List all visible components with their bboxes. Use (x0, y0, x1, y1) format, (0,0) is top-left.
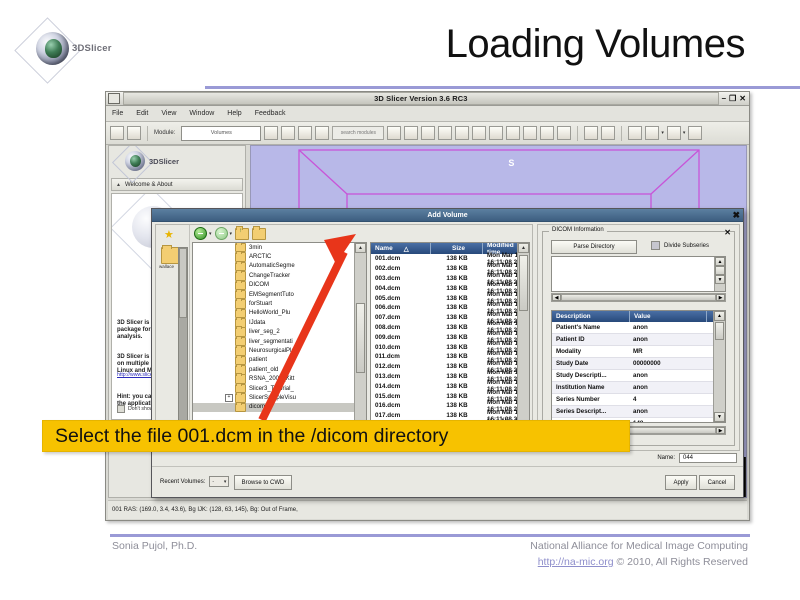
menu-file[interactable]: File (112, 110, 123, 117)
dicom-tag-row[interactable]: Study Descripti...anon (552, 370, 725, 382)
places-scrollbar-thumb[interactable] (179, 248, 187, 318)
menu-edit[interactable]: Edit (136, 110, 148, 117)
footer-copyright-text: © 2010, All Rights Reserved (617, 556, 748, 568)
places-sidebar[interactable]: ★ wallace (156, 225, 190, 450)
dicom-column-value: Value (630, 311, 707, 322)
directory-tree-item-label: liver_seg_2 (249, 329, 280, 335)
directory-tree-item-label: HelloWorld_Plu (249, 310, 290, 316)
parse-directory-button[interactable]: Parse Directory (551, 240, 637, 254)
file-browser-main: ▾ ▾ 3minARCTICAutomaticSegmeChangeTracke… (190, 225, 532, 450)
browse-to-cwd-button[interactable]: Browse to CWD (234, 475, 292, 490)
file-cell-name: 003.dcm (371, 275, 431, 282)
module-prev-icon[interactable] (264, 126, 278, 140)
directory-tree-scrollbar[interactable]: ▲ ▼ (354, 243, 366, 447)
file-cell-name: 004.dcm (371, 285, 431, 292)
file-cell-size: 138 KB (431, 275, 483, 282)
menu-view[interactable]: View (161, 110, 176, 117)
slicer-toolbar[interactable]: Module: Volumes search modules ▾ ▾ (106, 122, 749, 145)
directory-tree-item-label: NeurosurgicalPla (249, 348, 295, 354)
footer-url-link[interactable]: http://na-mic.org (538, 556, 614, 568)
new-folder-icon[interactable] (252, 228, 266, 240)
footer-author: Sonia Pujol, Ph.D. (112, 540, 197, 552)
dicom-tag-value: anon (630, 408, 725, 415)
directory-tree-item-label: dicom (249, 404, 265, 410)
menu-window[interactable]: Window (189, 110, 214, 117)
save-scene-icon[interactable] (127, 126, 141, 140)
directory-tree-item[interactable]: AutomaticSegme (193, 262, 355, 271)
redo-icon[interactable] (601, 126, 615, 140)
file-list-scroll-thumb[interactable] (519, 255, 528, 311)
slicer-window-title: 3D Slicer Version 3.6 RC3 (374, 94, 467, 103)
sort-ascending-icon: △ (404, 245, 409, 253)
dicom-tag-row[interactable]: Patient IDanon (552, 334, 725, 346)
series-hscroll-right-icon[interactable]: ▶ (716, 294, 725, 301)
file-browser-panes: 3minARCTICAutomaticSegmeChangeTrackerDIC… (192, 242, 530, 448)
directory-tree-item[interactable]: patient (193, 356, 355, 365)
instruction-caption: Select the file 001.dcm in the /dicom di… (42, 420, 630, 452)
file-cell-name: 002.dcm (371, 265, 431, 272)
footer-organization: National Alliance for Medical Image Comp… (530, 540, 748, 552)
series-hscroll-track[interactable] (561, 294, 716, 301)
dicom-tag-value: MR (630, 348, 725, 355)
directory-tree-item[interactable]: dicom (193, 403, 355, 412)
directory-tree-item-label: 3min (249, 245, 262, 251)
file-cell-size: 138 KB (431, 363, 483, 370)
file-cell-size: 138 KB (431, 314, 483, 321)
dicom-tag-value: anon (630, 336, 725, 343)
dicom-tag-description: Series Number (552, 396, 630, 403)
places-scrollbar[interactable] (178, 247, 188, 446)
dicom-tag-value: 00000000 (630, 360, 725, 367)
add-volume-content: ★ wallace ▾ ▾ (152, 221, 743, 497)
dicom-tag-value: anon (630, 384, 725, 391)
dicom-tag-row[interactable]: ModalityMR (552, 346, 725, 358)
column-header-name-label: Name (375, 245, 393, 252)
dicom-tag-row[interactable]: Series Descript...anon (552, 406, 725, 418)
dicom-tag-row[interactable]: Institution Nameanon (552, 382, 725, 394)
rotate-view-icon[interactable] (688, 126, 702, 140)
file-cell-name: 007.dcm (371, 314, 431, 321)
directory-tree-item-label: patient_old (249, 367, 278, 373)
file-cell-name: 013.dcm (371, 373, 431, 380)
recent-volumes-value: - (212, 479, 214, 485)
module-select-value: Volumes (211, 130, 232, 136)
directory-tree-item[interactable]: 3min (193, 243, 355, 252)
series-list-scrollbar[interactable]: ▲ ▼ (714, 257, 725, 291)
directory-tree-item-label: forStuart (249, 301, 272, 307)
add-icon[interactable] (194, 227, 207, 240)
volume-name-input[interactable]: 044 (679, 453, 737, 463)
add-pale-icon[interactable] (215, 227, 228, 240)
module-panel-logo: 3DSlicer (109, 146, 245, 176)
scroll-up-icon[interactable]: ▲ (355, 243, 366, 253)
panel-slicer-ball-icon (125, 151, 145, 171)
directory-tree-item[interactable]: liver_segmentati (193, 337, 355, 346)
file-cell-name: 015.dcm (371, 393, 431, 400)
system-menu-icon[interactable] (108, 93, 120, 104)
menu-help[interactable]: Help (227, 110, 241, 117)
file-cell-size: 138 KB (431, 304, 483, 311)
add-volume-dialog: Add Volume ✖ ★ wallace ▾ ▾ (151, 208, 744, 498)
file-cell-size: 138 KB (431, 412, 483, 419)
slide-logo: 3DSlicer (22, 28, 117, 70)
dicom-tag-description: Study Date (552, 360, 630, 367)
series-scroll-thumb[interactable] (715, 266, 725, 275)
add-volume-title: Add Volume (427, 212, 467, 219)
directory-tree-item[interactable]: patient_old (193, 365, 355, 374)
dicom-tag-row[interactable]: Patient's Nameanon (552, 322, 725, 334)
directory-tree-item[interactable]: RSNA_2009_Kitt (193, 374, 355, 383)
footer-divider (110, 534, 750, 537)
module-search-input[interactable]: search modules (332, 126, 384, 140)
series-list[interactable]: ▲ ▼ (551, 256, 726, 292)
directory-tree-item-label: ChangeTracker (249, 273, 290, 279)
menu-feedback[interactable]: Feedback (255, 110, 286, 117)
home-module-icon[interactable] (404, 126, 418, 140)
file-cell-name: 006.dcm (371, 304, 431, 311)
models-icon[interactable] (472, 126, 486, 140)
directory-tree-item[interactable]: EMSegmentTuto (193, 290, 355, 299)
file-list[interactable]: Name △ Size Modified time 001.dcm138 KBM… (370, 242, 530, 448)
series-scroll-up-icon[interactable]: ▲ (715, 257, 725, 266)
volume-name-row: Name: 044 (657, 453, 737, 463)
module-label: Module: (154, 130, 175, 136)
file-cell-name: 016.dcm (371, 402, 431, 409)
file-browser: ★ wallace ▾ ▾ (155, 224, 533, 451)
close-icon[interactable]: ✕ (739, 94, 746, 103)
cancel-button[interactable]: Cancel (699, 475, 735, 490)
star-icon[interactable]: ★ (164, 228, 189, 241)
add-volume-close-icon[interactable]: ✖ (732, 209, 740, 221)
dicom-tag-row[interactable]: Study Date00000000 (552, 358, 725, 370)
dicom-tag-description: Study Descripti... (552, 372, 630, 379)
orientation-label-s: S (508, 158, 514, 168)
module-history-icon[interactable] (298, 126, 312, 140)
dicom-tags-table[interactable]: Description Value Patient's NameanonPati… (551, 310, 726, 423)
directory-tree-item[interactable]: HelloWorld_Plu (193, 309, 355, 318)
file-cell-name: 008.dcm (371, 324, 431, 331)
directory-tree-item[interactable]: liver_seg_2 (193, 328, 355, 337)
up-folder-icon[interactable] (235, 228, 249, 240)
directory-tree-item[interactable]: ChangeTracker (193, 271, 355, 280)
dicom-tag-value: anon (630, 324, 725, 331)
mouse-mode-icon[interactable] (645, 126, 659, 140)
recent-volumes-select[interactable]: - ▾ (209, 476, 229, 487)
file-cell-size: 138 KB (431, 324, 483, 331)
directory-tree-item-label: EMSegmentTuto (249, 292, 294, 298)
directory-tree-item-label: SlicerSampleVisu (249, 395, 296, 401)
dicom-tag-value: 148 (630, 420, 725, 423)
add-chevron-down-icon[interactable]: ▾ (209, 231, 212, 237)
dicom-information-legend: DICOM Information (549, 227, 607, 233)
recent-chevron-down-icon: ▾ (224, 479, 227, 485)
apply-button[interactable]: Apply (665, 475, 697, 490)
dicom-tag-description: Modality (552, 348, 630, 355)
chevron-down-icon-2[interactable]: ▾ (683, 130, 686, 136)
file-browser-toolbar[interactable]: ▾ ▾ (190, 225, 532, 242)
expand-toggle-icon[interactable]: + (225, 394, 233, 402)
dicom-tag-description: Institution Name (552, 384, 630, 391)
dicom-tag-description: Patient's Name (552, 324, 630, 331)
directory-tree-item-label: liver_segmentati (249, 339, 293, 345)
series-list-hscrollbar[interactable]: ◀ ▶ (551, 293, 726, 302)
file-cell-size: 138 KB (431, 334, 483, 341)
directory-tree-item-label: IJdata (249, 320, 265, 326)
add-volume-bottom-bar: Recent Volumes: - ▾ Browse to CWD Apply … (152, 466, 743, 497)
logo-text: 3DSlicer (72, 43, 112, 54)
module-settings-icon[interactable] (315, 126, 329, 140)
minimize-icon[interactable]: – (722, 94, 726, 103)
toolbar-separator (147, 126, 148, 141)
layout-fourup-icon[interactable] (387, 126, 401, 140)
file-cell-name: 011.dcm (371, 353, 431, 360)
directory-tree-item-label: AutomaticSegme (249, 263, 295, 269)
file-cell-name: 005.dcm (371, 295, 431, 302)
volume-render-icon[interactable] (421, 126, 435, 140)
page-title: Loading Volumes (446, 22, 745, 67)
recent-volumes-row: Recent Volumes: - ▾ (160, 476, 229, 487)
file-cell-size: 138 KB (431, 393, 483, 400)
directory-tree[interactable]: 3minARCTICAutomaticSegmeChangeTrackerDIC… (192, 242, 367, 448)
module-next-icon[interactable] (281, 126, 295, 140)
toolbar-separator-3 (621, 126, 622, 141)
panel-logo-text: 3DSlicer (149, 157, 179, 166)
slicer-ball-icon (36, 32, 69, 65)
colors-icon[interactable] (540, 126, 554, 140)
dicom-information-panel: DICOM Information ✕ Parse Directory Divi… (537, 224, 740, 451)
directory-tree-item-label: ARCTIC (249, 254, 271, 260)
dicom-tag-description: Patient ID (552, 336, 630, 343)
add-pale-chevron-down-icon[interactable]: ▾ (230, 231, 233, 237)
titlebar-gradient: 3D Slicer Version 3.6 RC3 (123, 92, 719, 105)
divide-subseries-checkbox[interactable]: Divide Subseries (651, 241, 709, 250)
window-controls[interactable]: – ❐ ✕ (722, 94, 746, 103)
measure-icon[interactable] (523, 126, 537, 140)
dicom-tags-scrollbar[interactable]: ▲ ▼ (713, 311, 725, 422)
dicom-scroll-down-icon[interactable]: ▼ (714, 412, 725, 422)
directory-tree-item[interactable]: Slicer3_Tutorial_ (193, 384, 355, 393)
undo-icon[interactable] (584, 126, 598, 140)
dicom-tags-header: Description Value (552, 311, 725, 322)
file-cell-size: 138 KB (431, 265, 483, 272)
file-cell-size: 138 KB (431, 373, 483, 380)
dicom-scroll-up-icon[interactable]: ▲ (714, 311, 725, 321)
file-cell-name: 014.dcm (371, 383, 431, 390)
status-bar: 001 RAS: (169.0, 3.4, 43.6), Bg IJK: (12… (108, 500, 747, 519)
file-list-rows: 001.dcm138 KBMon Mar 15 16:11:08 20002.d… (371, 254, 529, 430)
file-cell-size: 138 KB (431, 295, 483, 302)
status-bar-text: 001 RAS: (169.0, 3.4, 43.6), Bg IJK: (12… (112, 507, 298, 513)
file-cell-name: 017.dcm (371, 412, 431, 419)
dicom-hscroll-right-icon[interactable]: ▶ (716, 427, 725, 434)
header-divider (205, 86, 800, 89)
slicer-menubar[interactable]: File Edit View Window Help Feedback (106, 106, 749, 122)
charts-icon[interactable] (557, 126, 571, 140)
checkbox-icon[interactable] (117, 405, 125, 413)
screenshot-icon[interactable] (628, 126, 642, 140)
data-module-icon[interactable] (438, 126, 452, 140)
file-cell-size: 138 KB (431, 344, 483, 351)
file-cell-size: 138 KB (431, 383, 483, 390)
file-cell-size: 138 KB (431, 285, 483, 292)
directory-tree-item[interactable]: ARCTIC (193, 252, 355, 261)
recent-volumes-label: Recent Volumes: (160, 479, 205, 485)
volume-name-label: Name: (657, 455, 675, 461)
directory-tree-rows: 3minARCTICAutomaticSegmeChangeTrackerDIC… (193, 243, 355, 447)
maximize-icon[interactable]: ❐ (729, 94, 736, 103)
toolbar-separator-2 (577, 126, 578, 141)
load-scene-icon[interactable] (110, 126, 124, 140)
editor-icon[interactable] (506, 126, 520, 140)
dicom-tag-description: Series Descript... (552, 408, 630, 415)
directory-tree-item-label: DICOM (249, 282, 269, 288)
series-hscroll-left-icon[interactable]: ◀ (552, 294, 561, 301)
collapse-triangle-icon: ▲ (116, 182, 121, 188)
directory-tree-scroll-thumb[interactable] (356, 303, 365, 373)
fiducial-place-icon[interactable] (667, 126, 681, 140)
directory-tree-item[interactable]: +SlicerSampleVisu (193, 393, 355, 402)
dicom-column-description: Description (552, 311, 630, 322)
file-cell-name: 012.dcm (371, 363, 431, 370)
dicom-tags-rows: Patient's NameanonPatient IDanonModality… (552, 322, 725, 423)
slicer-titlebar[interactable]: 3D Slicer Version 3.6 RC3 – ❐ ✕ (106, 92, 749, 106)
column-header-name[interactable]: Name △ (371, 243, 431, 254)
directory-tree-item-label: RSNA_2009_Kitt (249, 376, 294, 382)
transform-icon[interactable] (455, 126, 469, 140)
dicom-tag-value: anon (630, 372, 725, 379)
dicom-tag-row[interactable]: Series Number4 (552, 394, 725, 406)
file-cell-size: 138 KB (431, 255, 483, 262)
directory-tree-item[interactable]: NeurosurgicalPla (193, 346, 355, 355)
footer-copyright-row: http://na-mic.org © 2010, All Rights Res… (538, 556, 748, 568)
file-cell-size: 138 KB (431, 402, 483, 409)
divide-subseries-label: Divide Subseries (664, 243, 709, 249)
module-select[interactable]: Volumes (181, 126, 261, 141)
dicom-scroll-thumb[interactable] (715, 322, 724, 340)
dicom-tag-value: 4 (630, 396, 725, 403)
file-cell-name: 001.dcm (371, 255, 431, 262)
dicom-panel-close-icon[interactable]: ✕ (724, 228, 731, 237)
directory-tree-item-label: patient (249, 357, 267, 363)
file-cell-name: 010.dcm (371, 344, 431, 351)
folder-icon (235, 403, 246, 413)
file-cell-name: 009.dcm (371, 334, 431, 341)
series-scroll-down-icon[interactable]: ▼ (715, 275, 725, 284)
directory-tree-item[interactable]: DICOM (193, 281, 355, 290)
column-header-size[interactable]: Size (431, 243, 483, 254)
directory-tree-item[interactable]: forStuart (193, 299, 355, 308)
instruction-caption-text: Select the file 001.dcm in the /dicom di… (55, 425, 448, 448)
file-cell-size: 138 KB (431, 353, 483, 360)
dicom-information-frame: DICOM Information ✕ Parse Directory Divi… (542, 231, 735, 446)
directory-tree-item[interactable]: IJdata (193, 318, 355, 327)
file-list-scrollbar[interactable]: ▲ ▼ (517, 243, 529, 447)
directory-tree-item-label: Slicer3_Tutorial_ (249, 386, 294, 392)
chevron-down-icon[interactable]: ▾ (661, 130, 664, 136)
fiducials-icon[interactable] (489, 126, 503, 140)
divide-subseries-checkbox-icon[interactable] (651, 241, 660, 250)
file-scroll-up-icon[interactable]: ▲ (518, 243, 529, 253)
